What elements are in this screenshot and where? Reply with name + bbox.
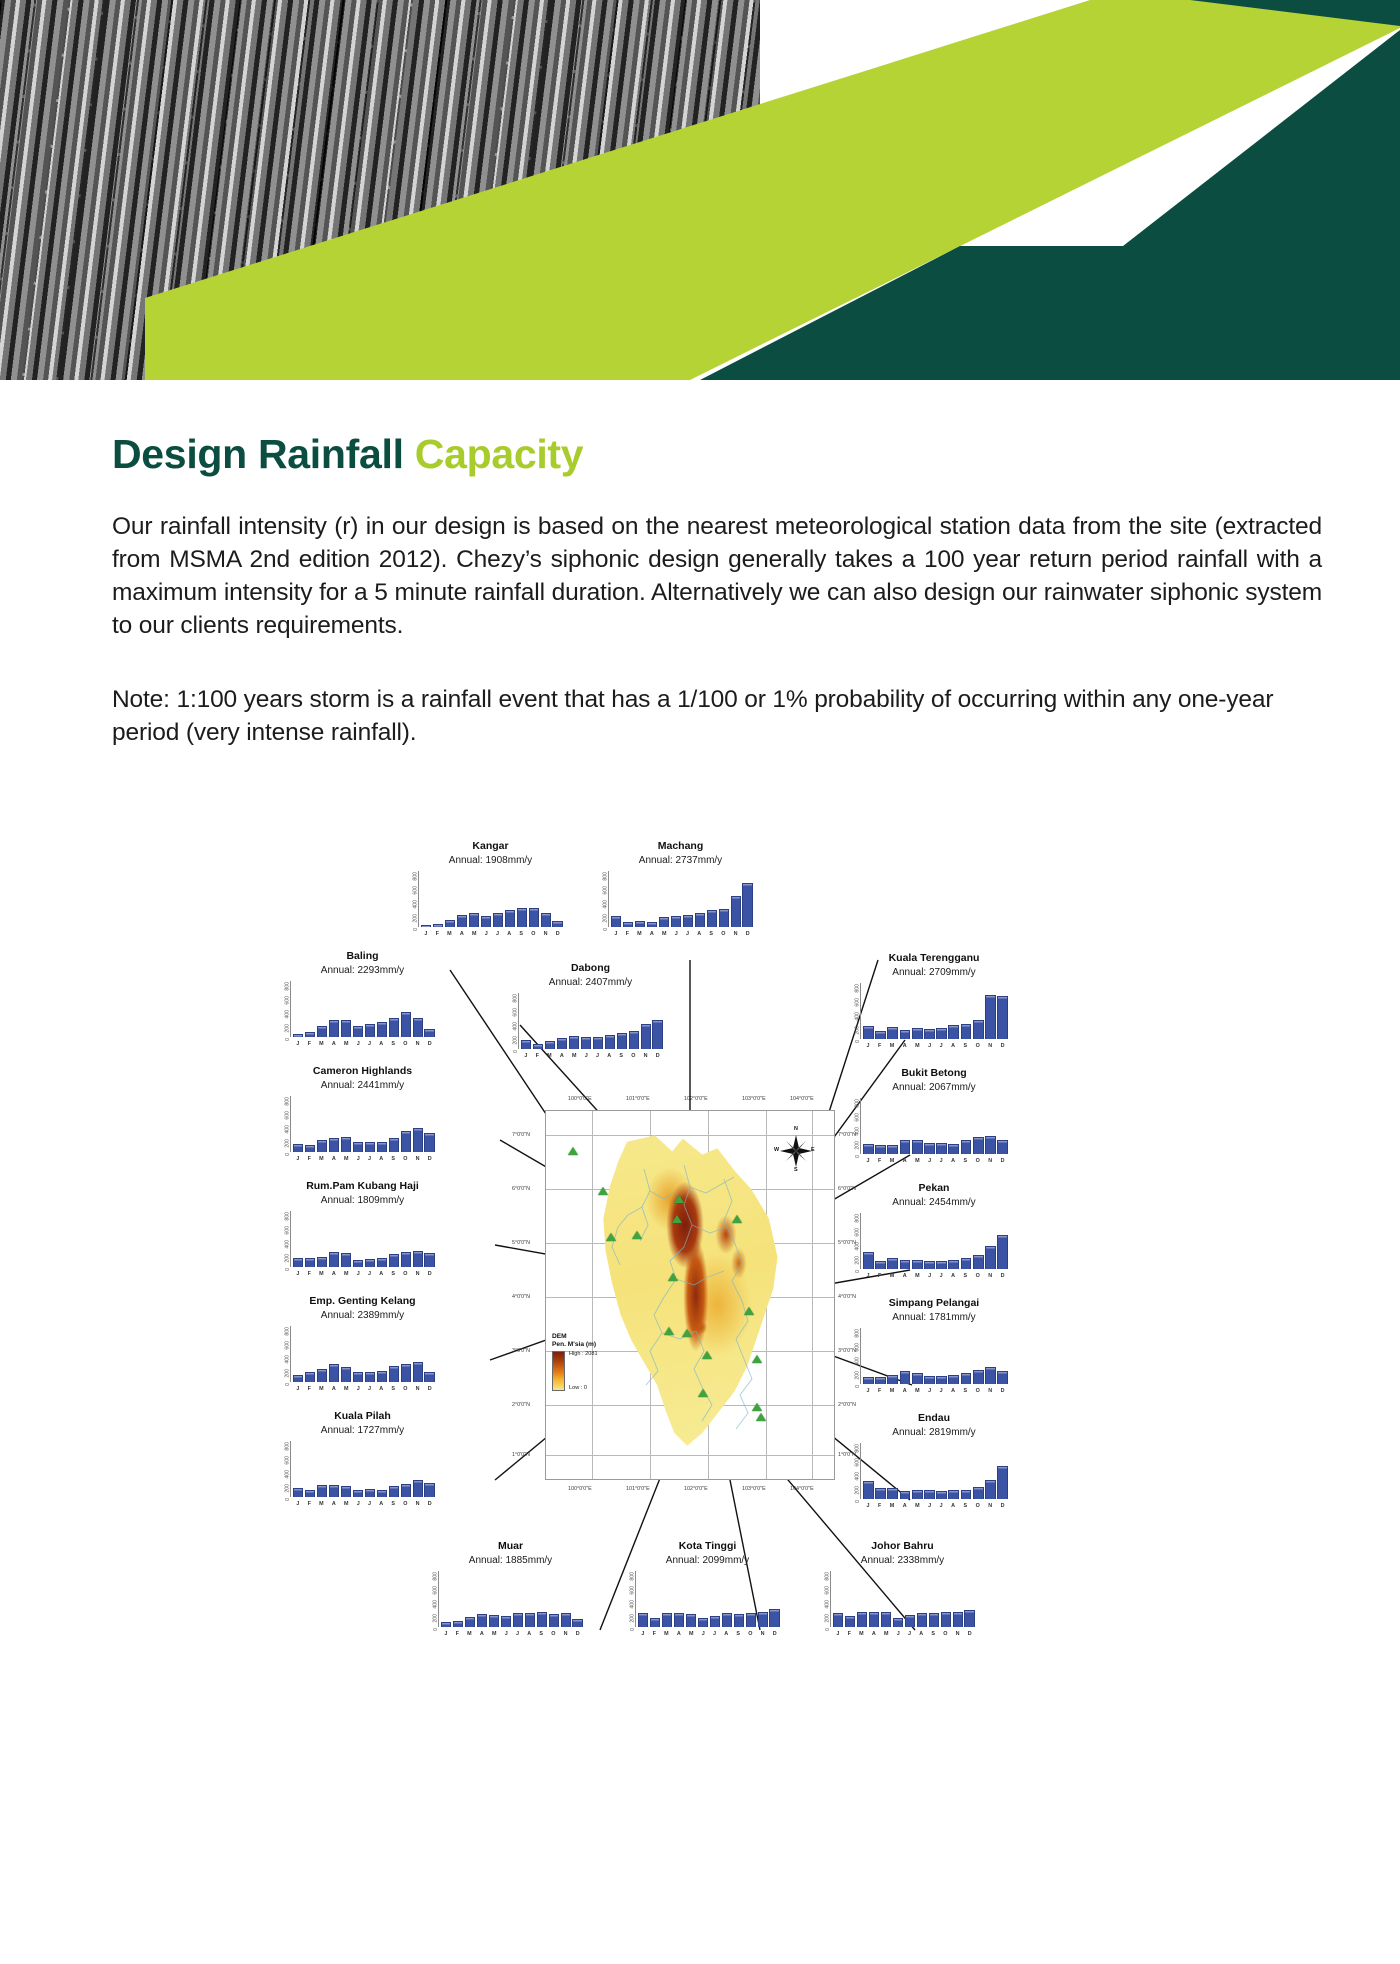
month-label: N — [985, 1388, 996, 1394]
y-axis-tick-label: 600 — [513, 1008, 519, 1017]
y-axis-tick-label: 0 — [285, 1383, 291, 1386]
month-label: A — [329, 1156, 340, 1162]
month-label: N — [412, 1271, 423, 1277]
y-axis-ticks: 0200400600800 — [839, 1443, 859, 1499]
bar — [686, 1614, 696, 1627]
bar — [329, 1252, 339, 1266]
station-marker — [682, 1329, 692, 1337]
y-axis-tick-label: 800 — [413, 872, 419, 881]
lat-label: 6°0'0"N — [838, 1186, 856, 1192]
bar — [917, 1613, 927, 1626]
y-axis-tick-label: 800 — [285, 1327, 291, 1336]
panel-title: Simpang Pelangai — [860, 1297, 1008, 1309]
y-axis-tick-label: 800 — [855, 984, 861, 993]
bar — [769, 1609, 779, 1627]
month-label: D — [572, 1631, 583, 1637]
y-axis-ticks: 0200400600800 — [839, 1213, 859, 1269]
panel-title: Muar — [438, 1540, 583, 1552]
bar — [572, 1619, 582, 1627]
bar-series — [293, 1211, 435, 1267]
lat-label: 5°0'0"N — [512, 1240, 530, 1246]
station-panel-baling: BalingAnnual: 2293mm/y0200400600800JFMAM… — [290, 950, 435, 1037]
month-label: J — [925, 1503, 935, 1509]
month-label: A — [916, 1631, 927, 1637]
bar — [421, 925, 431, 926]
month-label: J — [293, 1271, 303, 1277]
x-axis-month-labels: JFMAMJJASOND — [863, 1273, 1008, 1279]
month-label: F — [304, 1271, 314, 1277]
x-axis-month-labels: JFMAMJJASOND — [421, 931, 563, 937]
month-label: N — [757, 1631, 768, 1637]
bar — [912, 1140, 923, 1154]
month-label: F — [874, 1273, 884, 1279]
lon-label: 104°0'0"E — [790, 1096, 814, 1102]
bar-series — [611, 871, 753, 927]
month-label: F — [452, 1631, 462, 1637]
bar — [912, 1260, 923, 1269]
bar — [353, 1372, 363, 1381]
month-label: M — [634, 931, 645, 937]
panel-annual-rainfall: Annual: 2293mm/y — [290, 965, 435, 977]
y-axis-tick-label: 800 — [855, 1099, 861, 1108]
bar — [365, 1259, 375, 1267]
bar — [924, 1376, 935, 1384]
month-label: O — [972, 1273, 983, 1279]
bar-series — [863, 1443, 1008, 1499]
month-label: N — [730, 931, 741, 937]
month-label: A — [948, 1273, 959, 1279]
month-label: O — [400, 1271, 411, 1277]
month-label: N — [540, 931, 551, 937]
bar — [875, 1377, 886, 1384]
y-axis-tick-label: 200 — [855, 1486, 861, 1495]
bar — [722, 1613, 732, 1626]
month-label: J — [365, 1386, 375, 1392]
station-panel-simpang-pelangai: Simpang PelangaiAnnual: 1781mm/y02004006… — [860, 1297, 1008, 1384]
y-axis-tick-label: 200 — [630, 1614, 636, 1623]
month-label: J — [893, 1631, 903, 1637]
y-axis-tick-label: 0 — [855, 1270, 861, 1273]
bar — [936, 1491, 947, 1499]
bar — [593, 1037, 603, 1049]
station-panel-emp-genting-kelang: Emp. Genting KelangAnnual: 2389mm/y02004… — [290, 1295, 435, 1382]
bar — [365, 1024, 375, 1037]
bar — [365, 1142, 375, 1151]
month-label: A — [376, 1501, 387, 1507]
x-axis-month-labels: JFMAMJJASOND — [293, 1271, 435, 1277]
bar — [647, 922, 657, 927]
lat-label: 1°0'0"N — [512, 1452, 530, 1458]
y-axis-ticks: 0200400600800 — [839, 1098, 859, 1154]
y-axis-tick-label: 200 — [285, 1024, 291, 1033]
month-label: D — [424, 1501, 435, 1507]
month-label: F — [874, 1158, 884, 1164]
month-label: A — [869, 1631, 880, 1637]
bar — [731, 896, 741, 926]
month-label: D — [424, 1386, 435, 1392]
month-label: M — [881, 1631, 892, 1637]
compass-north-label: N — [794, 1126, 798, 1132]
month-label: F — [432, 931, 442, 937]
month-label: S — [516, 931, 526, 937]
y-axis-tick-label: 0 — [513, 1050, 519, 1053]
bar — [481, 916, 491, 927]
bar — [521, 1040, 531, 1049]
y-axis-tick-label: 600 — [285, 1226, 291, 1235]
y-axis-tick-label: 600 — [630, 1586, 636, 1595]
panel-title: Kota Tinggi — [635, 1540, 780, 1552]
page-title: Design Rainfall Capacity — [112, 432, 1322, 477]
y-axis-tick-label: 0 — [855, 1155, 861, 1158]
month-label: J — [513, 1631, 523, 1637]
bar — [317, 1485, 327, 1497]
month-label: M — [544, 1053, 555, 1059]
bar — [650, 1618, 660, 1626]
month-label: J — [683, 931, 693, 937]
y-axis-tick-label: 800 — [603, 872, 609, 881]
bar — [929, 1613, 939, 1626]
bar — [900, 1371, 911, 1383]
station-panel-kuala-pilah: Kuala PilahAnnual: 1727mm/y0200400600800… — [290, 1410, 435, 1497]
month-label: J — [293, 1386, 303, 1392]
station-panel-machang: MachangAnnual: 2737mm/y0200400600800JFMA… — [608, 840, 753, 927]
month-label: S — [536, 1631, 546, 1637]
lat-label: 3°0'0"N — [512, 1348, 530, 1354]
y-axis-tick-label: 0 — [285, 1498, 291, 1501]
month-label: O — [548, 1631, 559, 1637]
bar — [674, 1613, 684, 1627]
bar — [973, 1255, 984, 1269]
bar — [353, 1026, 363, 1037]
bar — [863, 1377, 874, 1384]
y-axis-tick-label: 600 — [603, 886, 609, 895]
bar — [936, 1143, 947, 1154]
month-label: J — [353, 1271, 363, 1277]
bar — [961, 1490, 972, 1499]
month-label: A — [376, 1041, 387, 1047]
panel-annual-rainfall: Annual: 1781mm/y — [860, 1312, 1008, 1324]
bar — [964, 1610, 974, 1626]
bar — [623, 922, 633, 926]
x-axis-month-labels: JFMAMJJASOND — [293, 1041, 435, 1047]
lon-label: 100°0'0"E — [568, 1096, 592, 1102]
month-label: S — [388, 1501, 398, 1507]
y-axis-tick-label: 600 — [413, 886, 419, 895]
panel-plot: 0200400600800JFMAMJJASOND — [290, 1211, 435, 1267]
bar — [948, 1490, 959, 1498]
month-label: M — [316, 1271, 327, 1277]
panel-title: Kuala Terengganu — [860, 952, 1008, 964]
month-label: N — [952, 1631, 963, 1637]
bar — [857, 1612, 867, 1627]
y-axis-tick-label: 400 — [285, 1470, 291, 1479]
month-label: A — [899, 1273, 910, 1279]
map-legend: DEM Pen. M'sia (m) High : 2081 Low : 0 — [552, 1333, 638, 1391]
station-panel-rum-pam-kubang-haji: Rum.Pam Kubang HajiAnnual: 1809mm/y02004… — [290, 1180, 435, 1267]
panel-title: Cameron Highlands — [290, 1065, 435, 1077]
bar — [638, 1613, 648, 1626]
month-label: M — [341, 1156, 352, 1162]
bar — [424, 1133, 434, 1152]
y-axis-tick-label: 0 — [285, 1268, 291, 1271]
y-axis-tick-label: 800 — [285, 982, 291, 991]
station-marker — [752, 1355, 762, 1363]
station-marker — [674, 1195, 684, 1203]
month-label: M — [464, 1631, 475, 1637]
bar — [875, 1031, 886, 1039]
y-axis-tick-label: 0 — [825, 1628, 831, 1631]
y-axis-tick-label: 200 — [855, 1026, 861, 1035]
x-axis-month-labels: JFMAMJJASOND — [833, 1631, 975, 1637]
month-label: D — [424, 1041, 435, 1047]
month-label: O — [628, 1053, 639, 1059]
month-label: J — [501, 1631, 511, 1637]
month-label: J — [936, 1503, 946, 1509]
bar — [961, 1140, 972, 1153]
bar — [305, 1490, 315, 1497]
month-label: J — [353, 1386, 363, 1392]
panel-title: Dabong — [518, 962, 663, 974]
month-label: S — [960, 1388, 971, 1394]
station-panel-endau: EndauAnnual: 2819mm/y0200400600800JFMAMJ… — [860, 1412, 1008, 1499]
bar — [961, 1024, 972, 1039]
lon-label: 101°0'0"E — [626, 1096, 650, 1102]
y-axis-tick-label: 400 — [855, 1242, 861, 1251]
y-axis-tick-label: 400 — [285, 1355, 291, 1364]
bar — [961, 1258, 972, 1269]
y-axis-ticks: 0200400600800 — [497, 993, 517, 1049]
bar — [545, 1041, 555, 1048]
y-axis-tick-label: 0 — [285, 1153, 291, 1156]
station-marker — [756, 1413, 766, 1421]
bar — [401, 1252, 411, 1267]
lat-label: 4°0'0"N — [512, 1294, 530, 1300]
bar — [389, 1018, 399, 1037]
bar — [489, 1615, 499, 1627]
month-label: A — [694, 931, 705, 937]
bar — [317, 1140, 327, 1152]
panel-annual-rainfall: Annual: 2338mm/y — [830, 1555, 975, 1567]
y-axis-tick-label: 800 — [825, 1572, 831, 1581]
page-banner — [0, 0, 1400, 380]
month-label: S — [388, 1041, 398, 1047]
bar-series — [421, 871, 563, 927]
month-label: M — [886, 1503, 897, 1509]
month-label: A — [948, 1158, 959, 1164]
month-label: M — [444, 931, 455, 937]
month-label: J — [936, 1273, 946, 1279]
bar-series — [521, 993, 663, 1049]
lon-label: 103°0'0"E — [742, 1096, 766, 1102]
bar — [887, 1145, 898, 1154]
bar — [305, 1372, 315, 1381]
bar — [924, 1490, 935, 1498]
month-label: N — [985, 1043, 996, 1049]
y-axis-ticks: 0200400600800 — [587, 871, 607, 927]
month-label: S — [733, 1631, 743, 1637]
bar — [501, 1616, 511, 1626]
bar — [305, 1032, 315, 1037]
month-label: A — [329, 1041, 340, 1047]
bar — [293, 1034, 303, 1037]
station-panel-pekan: PekanAnnual: 2454mm/y0200400600800JFMAMJ… — [860, 1182, 1008, 1269]
y-axis-tick-label: 600 — [433, 1586, 439, 1595]
bar — [413, 1480, 423, 1496]
station-marker — [732, 1215, 742, 1223]
month-label: J — [493, 931, 503, 937]
panel-plot: 0200400600800JFMAMJJASOND — [860, 1213, 1008, 1269]
month-label: A — [376, 1271, 387, 1277]
bar — [513, 1613, 523, 1626]
month-label: D — [652, 1053, 663, 1059]
month-label: M — [912, 1503, 923, 1509]
station-marker — [632, 1231, 642, 1239]
bar — [698, 1618, 708, 1627]
month-label: D — [769, 1631, 780, 1637]
station-marker — [664, 1327, 674, 1335]
month-label: F — [304, 1386, 314, 1392]
panel-plot: 0200400600800JFMAMJJASOND — [290, 981, 435, 1037]
station-marker — [702, 1351, 712, 1359]
bar — [635, 921, 645, 926]
bar — [401, 1484, 411, 1497]
lat-label: 2°0'0"N — [838, 1402, 856, 1408]
station-marker — [598, 1187, 608, 1195]
month-label: A — [376, 1386, 387, 1392]
month-label: A — [524, 1631, 535, 1637]
station-marker — [668, 1273, 678, 1281]
month-label: N — [640, 1053, 651, 1059]
bar — [746, 1613, 756, 1627]
lat-label: 4°0'0"N — [838, 1294, 856, 1300]
month-label: A — [899, 1388, 910, 1394]
legend-low-label: Low : 0 — [569, 1385, 598, 1391]
month-label: S — [960, 1273, 971, 1279]
bar — [887, 1027, 898, 1038]
x-axis-month-labels: JFMAMJJASOND — [863, 1158, 1008, 1164]
month-label: D — [997, 1043, 1008, 1049]
panel-title: Emp. Genting Kelang — [290, 1295, 435, 1307]
y-axis-tick-label: 400 — [855, 1127, 861, 1136]
bar — [537, 1612, 547, 1626]
bar — [973, 1487, 984, 1499]
panel-annual-rainfall: Annual: 2067mm/y — [860, 1082, 1008, 1094]
y-axis-tick-label: 200 — [603, 914, 609, 923]
panel-title: Johor Bahru — [830, 1540, 975, 1552]
lon-label: 103°0'0"E — [742, 1486, 766, 1492]
month-label: S — [960, 1043, 971, 1049]
station-panel-cameron-highlands: Cameron HighlandsAnnual: 2441mm/y0200400… — [290, 1065, 435, 1152]
y-axis-tick-label: 200 — [825, 1614, 831, 1623]
legend-value-labels: High : 2081 Low : 0 — [569, 1351, 598, 1391]
month-label: M — [316, 1041, 327, 1047]
panel-annual-rainfall: Annual: 2099mm/y — [635, 1555, 780, 1567]
y-axis-tick-label: 600 — [855, 1458, 861, 1467]
month-label: J — [833, 1631, 843, 1637]
y-axis-tick-label: 600 — [285, 1341, 291, 1350]
bar — [973, 1020, 984, 1039]
y-axis-ticks: 0200400600800 — [269, 1211, 289, 1267]
month-label: J — [365, 1501, 375, 1507]
month-label: F — [304, 1501, 314, 1507]
bar — [329, 1020, 339, 1036]
bar — [863, 1026, 874, 1039]
bar — [441, 1622, 451, 1627]
bar — [912, 1373, 923, 1383]
bar — [389, 1366, 399, 1381]
bar — [293, 1488, 303, 1496]
month-label: F — [874, 1503, 884, 1509]
bar — [329, 1485, 339, 1497]
month-label: M — [341, 1501, 352, 1507]
bar — [662, 1613, 672, 1626]
month-label: J — [863, 1388, 873, 1394]
month-label: A — [948, 1043, 959, 1049]
map-body: DEM Pen. M'sia (m) High : 2081 Low : 0 — [546, 1111, 834, 1479]
bar — [377, 1022, 387, 1036]
lon-label: 102°0'0"E — [684, 1096, 708, 1102]
bar — [905, 1615, 915, 1627]
bar — [997, 996, 1008, 1039]
y-axis-tick-label: 400 — [855, 1472, 861, 1481]
bar — [401, 1012, 411, 1036]
month-label: F — [874, 1388, 884, 1394]
month-label: D — [997, 1273, 1008, 1279]
month-label: S — [388, 1271, 398, 1277]
bar — [912, 1028, 923, 1039]
bar — [985, 995, 996, 1038]
month-label: J — [863, 1043, 873, 1049]
month-label: F — [532, 1053, 542, 1059]
station-marker — [698, 1389, 708, 1397]
bar-series — [863, 983, 1008, 1039]
month-label: J — [581, 1053, 591, 1059]
bar — [353, 1490, 363, 1497]
y-axis-tick-label: 800 — [855, 1214, 861, 1223]
bar — [742, 883, 752, 926]
month-label: J — [293, 1041, 303, 1047]
month-label: M — [912, 1388, 923, 1394]
month-label: N — [985, 1503, 996, 1509]
station-panel-muar: MuarAnnual: 1885mm/y0200400600800JFMAMJJ… — [438, 1540, 583, 1627]
y-axis-tick-label: 600 — [855, 1113, 861, 1122]
bar — [317, 1257, 327, 1267]
y-axis-tick-label: 800 — [285, 1442, 291, 1451]
month-label: N — [985, 1273, 996, 1279]
legend-subtitle: Pen. M'sia (m) — [552, 1341, 638, 1348]
y-axis-tick-label: 0 — [433, 1628, 439, 1631]
bar-series — [863, 1213, 1008, 1269]
month-label: J — [936, 1043, 946, 1049]
month-label: A — [948, 1503, 959, 1509]
month-label: A — [948, 1388, 959, 1394]
bar — [533, 1044, 543, 1048]
bar — [893, 1618, 903, 1627]
bar — [465, 1617, 475, 1626]
panel-annual-rainfall: Annual: 2819mm/y — [860, 1427, 1008, 1439]
station-panel-bukit-betong: Bukit BetongAnnual: 2067mm/y020040060080… — [860, 1067, 1008, 1154]
bar — [997, 1371, 1008, 1384]
month-label: S — [928, 1631, 938, 1637]
panel-annual-rainfall: Annual: 1809mm/y — [290, 1195, 435, 1207]
bar — [924, 1143, 935, 1154]
elevation-color-ramp — [552, 1351, 565, 1391]
y-axis-ticks: 0200400600800 — [269, 981, 289, 1037]
month-label: J — [710, 1631, 720, 1637]
bar — [401, 1131, 411, 1151]
month-label: M — [469, 931, 480, 937]
month-label: A — [504, 931, 515, 937]
